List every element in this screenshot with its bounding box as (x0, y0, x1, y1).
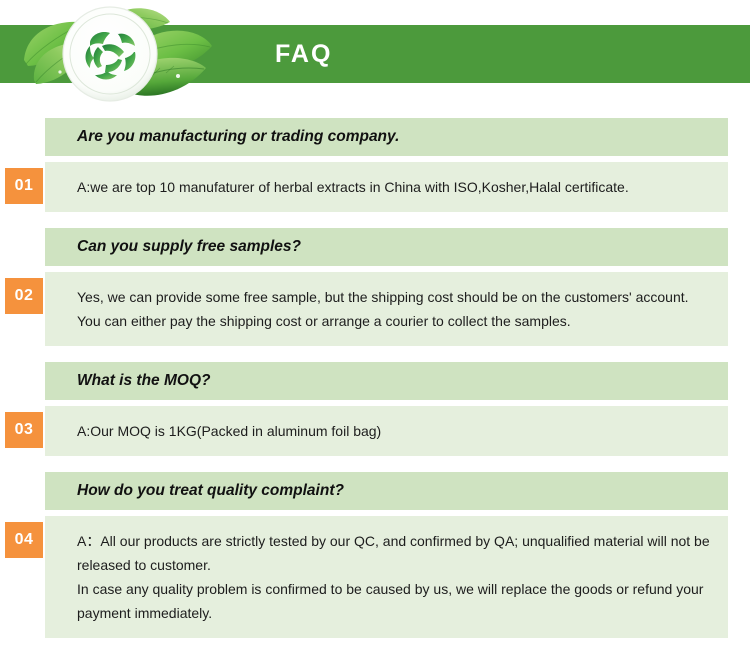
faq-answer: Yes, we can provide some free sample, bu… (45, 272, 728, 346)
faq-answer-line: A：All our products are strictly tested b… (77, 529, 710, 577)
faq-number-badge: 04 (5, 522, 43, 558)
faq-answer-line: In case any quality problem is confirmed… (77, 577, 710, 625)
faq-list: 01 Are you manufacturing or trading comp… (0, 118, 750, 654)
faq-question: Are you manufacturing or trading company… (45, 118, 728, 156)
faq-question: What is the MOQ? (45, 362, 728, 400)
faq-answer: A：All our products are strictly tested b… (45, 516, 728, 638)
faq-question: Can you supply free samples? (45, 228, 728, 266)
logo-circle (63, 7, 157, 101)
faq-answer: A:we are top 10 manufaturer of herbal ex… (45, 162, 728, 212)
faq-number-badge: 01 (5, 168, 43, 204)
faq-answer: A:Our MOQ is 1KG(Packed in aluminum foil… (45, 406, 728, 456)
faq-number-badge: 03 (5, 412, 43, 448)
faq-item: 04 How do you treat quality complaint? A… (0, 472, 750, 638)
faq-number-badge: 02 (5, 278, 43, 314)
page-header: FAQ (0, 0, 750, 118)
faq-answer-line: A:we are top 10 manufaturer of herbal ex… (77, 175, 710, 199)
faq-item: 01 Are you manufacturing or trading comp… (0, 118, 750, 212)
page-title: FAQ (275, 25, 332, 83)
faq-item: 03 What is the MOQ? A:Our MOQ is 1KG(Pac… (0, 362, 750, 456)
faq-answer-line: Yes, we can provide some free sample, bu… (77, 285, 710, 333)
faq-question: How do you treat quality complaint? (45, 472, 728, 510)
leaf-recycle-logo (18, 2, 218, 114)
faq-answer-line: A:Our MOQ is 1KG(Packed in aluminum foil… (77, 419, 710, 443)
faq-item: 02 Can you supply free samples? Yes, we … (0, 228, 750, 346)
